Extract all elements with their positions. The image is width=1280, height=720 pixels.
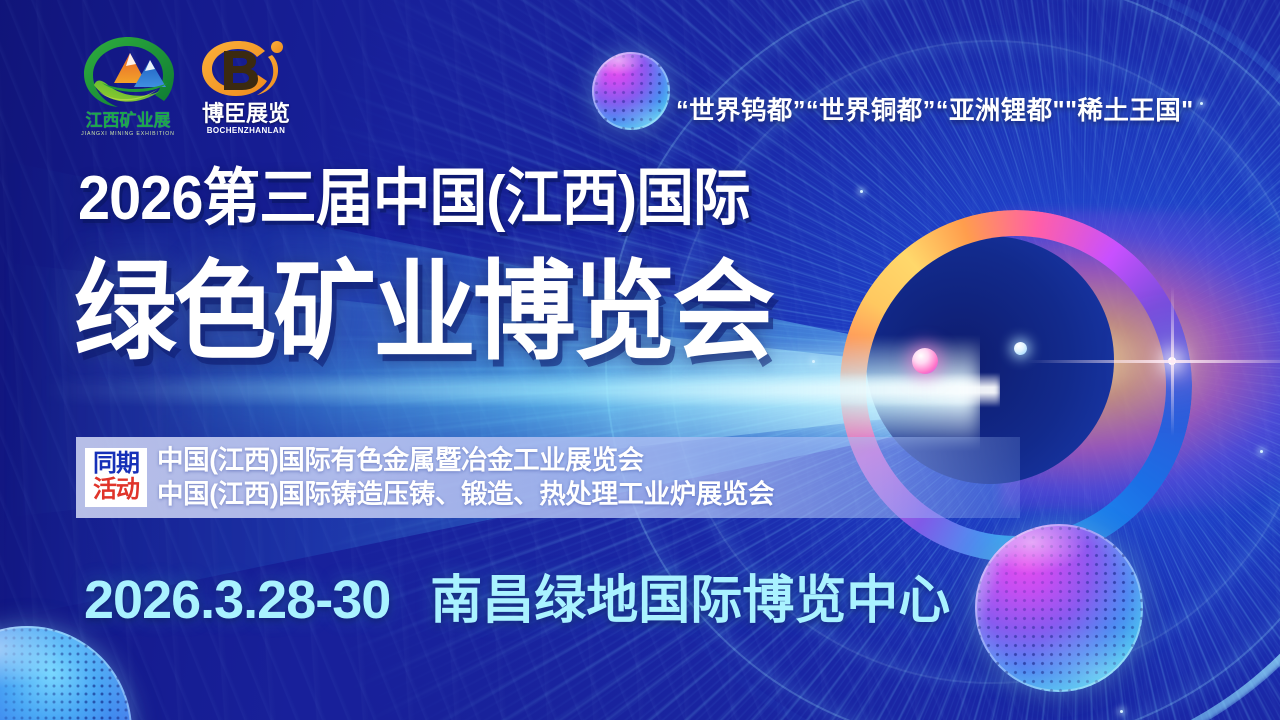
logo-jiangxi-label-cn: 江西矿业展 xyxy=(78,112,178,130)
leaf-mountain-logo-icon xyxy=(78,33,178,111)
halftone-sphere-top xyxy=(592,52,670,130)
sphere-gloss xyxy=(975,524,1143,692)
logo-bochen-label-en: BOCHENZHANLAN xyxy=(194,126,298,135)
concurrent-events-badge: 同期 活动 xyxy=(85,448,147,507)
logo-jiangxi-mining-exhibition[interactable]: 江西矿业展 JIANGXI MINING EXHIBITION xyxy=(78,33,178,137)
event-venue: 南昌绿地国际博览中心 xyxy=(430,558,950,633)
concurrent-event-item: 中国(江西)国际铸造压铸、锻造、热处理工业炉展览会 xyxy=(157,478,1020,512)
logo-jiangxi-label-en: JIANGXI MINING EXHIBITION xyxy=(78,131,178,137)
concurrent-events-list: 中国(江西)国际有色金属暨冶金工业展览会 中国(江西)国际铸造压铸、锻造、热处理… xyxy=(157,444,1020,512)
title-line-2: 绿色矿业博览会 xyxy=(74,258,772,366)
logo-bochen-label-cn: 博臣展览 xyxy=(194,102,298,125)
sphere-gloss xyxy=(0,626,132,720)
title-line-1: 2026第三届中国(江西)国际 xyxy=(78,168,750,230)
halftone-sphere-bottom-right xyxy=(975,524,1143,692)
concurrent-event-item: 中国(江西)国际有色金属暨冶金工业展览会 xyxy=(157,444,1020,478)
sphere-gloss xyxy=(592,52,670,130)
bc-monogram-logo-icon xyxy=(194,37,298,99)
concurrent-events-strip: 同期 活动 中国(江西)国际有色金属暨冶金工业展览会 中国(江西)国际铸造压铸、… xyxy=(76,437,1020,518)
logo-row: 江西矿业展 JIANGXI MINING EXHIBITION 博臣展览 BOC… xyxy=(78,33,298,137)
halftone-sphere-bottom-left xyxy=(0,626,132,720)
footer-date-venue: 2026.3.28-30 南昌绿地国际博览中心 xyxy=(84,558,950,633)
tagline: “世界钨都”“世界铜都”“亚洲锂都""稀土王国" xyxy=(676,90,1266,127)
exhibition-poster: 江西矿业展 JIANGXI MINING EXHIBITION 博臣展览 BOC… xyxy=(0,0,1280,720)
event-date: 2026.3.28-30 xyxy=(84,569,390,631)
logo-bochen-zhanlan[interactable]: 博臣展览 BOCHENZHANLAN xyxy=(194,33,298,135)
badge-line-2: 活动 xyxy=(89,477,143,503)
badge-line-1: 同期 xyxy=(89,451,143,477)
